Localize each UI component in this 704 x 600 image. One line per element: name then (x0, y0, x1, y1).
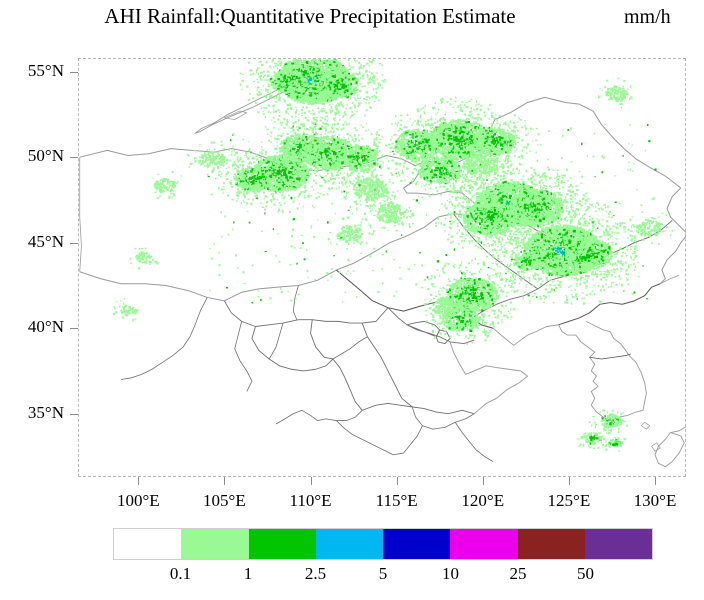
colorbar-segment-7 (585, 529, 652, 559)
colorbar-tick-label-0.1: 0.1 (147, 564, 215, 584)
colorbar-segment-0 (114, 529, 181, 559)
y-tick-label-35: 35°N (0, 403, 64, 423)
colorbar-tick-label-1: 1 (214, 564, 282, 584)
page-title: AHI Rainfall:Quantitative Precipitation … (0, 4, 620, 29)
y-tick (70, 328, 78, 329)
y-tick (70, 72, 78, 73)
map-plot-area (78, 58, 686, 477)
x-tick-label-115: 115°E (355, 491, 439, 511)
x-tick (483, 477, 484, 485)
x-tick (397, 477, 398, 485)
x-tick-label-120: 120°E (441, 491, 525, 511)
x-tick-label-130: 130°E (613, 491, 697, 511)
x-tick (655, 477, 656, 485)
precipitation-map-canvas (78, 58, 686, 477)
x-tick-label-105: 105°E (182, 491, 266, 511)
colorbar-segment-6 (518, 529, 585, 559)
colorbar-tick-label-2.5: 2.5 (282, 564, 350, 584)
colorbar-tick-label-25: 25 (484, 564, 552, 584)
colorbar-tick-label-5: 5 (349, 564, 417, 584)
colorbar-segment-3 (316, 529, 383, 559)
colorbar-segment-5 (450, 529, 517, 559)
colorbar-tick-label-10: 10 (417, 564, 485, 584)
y-tick (70, 243, 78, 244)
y-tick-label-50: 50°N (0, 146, 64, 166)
x-tick-label-125: 125°E (527, 491, 611, 511)
x-tick-label-110: 110°E (269, 491, 353, 511)
y-tick-label-45: 45°N (0, 232, 64, 252)
x-tick (224, 477, 225, 485)
x-tick-label-100: 100°E (96, 491, 180, 511)
x-tick (138, 477, 139, 485)
y-tick-label-40: 40°N (0, 317, 64, 337)
colorbar-segment-1 (181, 529, 248, 559)
y-tick-label-55: 55°N (0, 61, 64, 81)
colorbar-segment-4 (383, 529, 450, 559)
colorbar-tick-label-50: 50 (552, 564, 620, 584)
colorbar (113, 528, 653, 560)
x-tick (311, 477, 312, 485)
y-tick (70, 414, 78, 415)
x-tick (569, 477, 570, 485)
y-tick (70, 157, 78, 158)
colorbar-segment-2 (249, 529, 316, 559)
units-label: mm/h (624, 6, 671, 29)
